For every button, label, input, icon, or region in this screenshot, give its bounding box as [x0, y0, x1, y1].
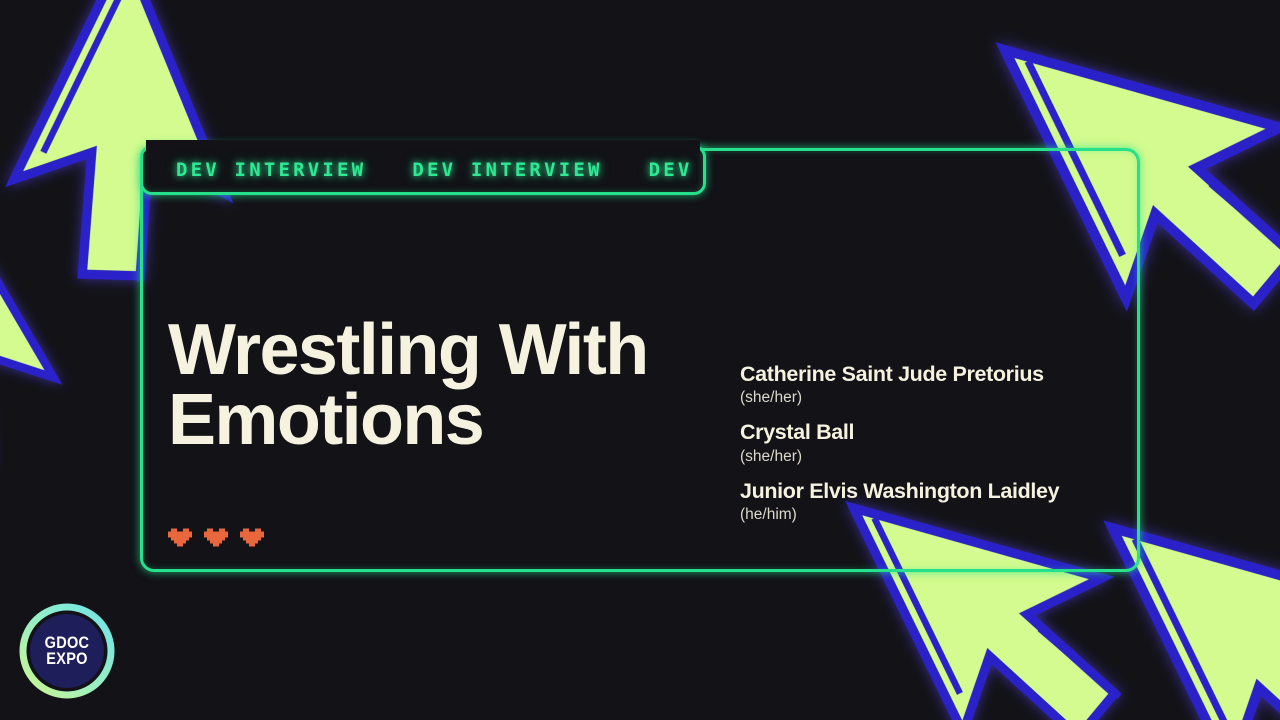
speaker-name: Catherine Saint Jude Pretorius	[740, 362, 1140, 387]
speaker-pronouns: (she/her)	[740, 447, 1140, 468]
speaker-entry: Junior Elvis Washington Laidley (he/him)	[740, 479, 1140, 526]
speaker-name: Junior Elvis Washington Laidley	[740, 479, 1140, 504]
speaker-name: Crystal Ball	[740, 420, 1140, 445]
gdoc-expo-logo: GDOC EXPO	[18, 602, 116, 700]
health-hearts	[168, 528, 264, 550]
pixel-heart-icon	[204, 528, 228, 550]
speaker-pronouns: (she/her)	[740, 388, 1140, 409]
session-title: Wrestling With Emotions	[168, 316, 728, 456]
speaker-entry: Catherine Saint Jude Pretorius (she/her)	[740, 362, 1140, 409]
speaker-pronouns: (he/him)	[740, 505, 1140, 526]
logo-line-2: EXPO	[46, 651, 87, 668]
pixel-heart-icon	[168, 528, 192, 550]
title-card-slide: DEV INTERVIEW DEV INTERVIEW DEV Wrestlin…	[0, 0, 1280, 720]
slide-content: Wrestling With Emotions Catherine Saint …	[0, 0, 1280, 720]
pixel-heart-icon	[240, 528, 264, 550]
logo-line-1: GDOC	[45, 635, 90, 652]
speaker-entry: Crystal Ball (she/her)	[740, 420, 1140, 467]
logo-wordmark: GDOC EXPO	[24, 602, 110, 700]
speaker-list: Catherine Saint Jude Pretorius (she/her)…	[740, 362, 1140, 526]
